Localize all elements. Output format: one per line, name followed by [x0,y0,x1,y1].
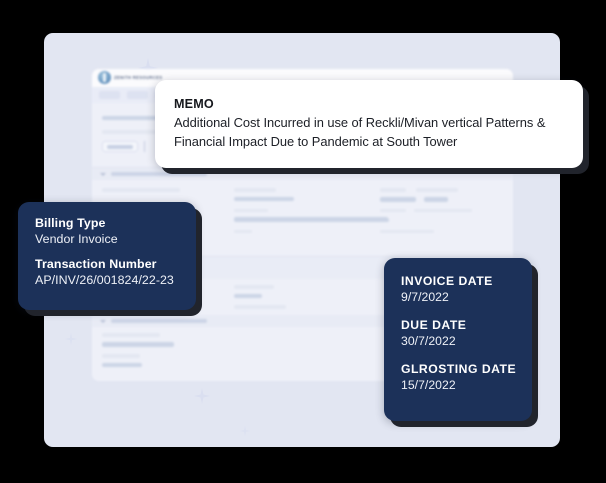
field-transaction-number: Transaction Number AP/INV/26/001824/22-2… [35,257,196,287]
skeleton-pill[interactable] [102,141,138,152]
skeleton-bar [102,354,140,358]
field-glrosting-date: GLROSTING DATE 15/7/2022 [401,362,532,392]
app-logo: ZENITH RESOURCES [98,71,162,84]
skeleton-bar [111,319,207,323]
skeleton-bar [234,197,294,201]
field-label: Billing Type [35,216,196,230]
skeleton-bar [380,230,434,233]
tab-placeholder[interactable] [127,91,148,99]
skeleton-bar [380,218,389,222]
skeleton-bar [424,197,448,202]
skeleton-bar [102,363,142,367]
skeleton-bar [414,209,472,212]
memo-title: MEMO [174,97,563,111]
skeleton-bar [234,285,274,289]
field-value: Vendor Invoice [35,232,196,246]
skeleton-bar [102,188,180,192]
billing-callout-card: Billing Type Vendor Invoice Transaction … [18,202,196,310]
sparkle-icon [194,388,210,404]
skeleton-bar [234,294,262,298]
zenith-logo-icon [98,71,111,84]
field-label: Transaction Number [35,257,196,271]
skeleton-bar [111,172,207,176]
screenshot-stage: ZENITH RESOURCES [0,0,606,483]
dates-callout-card: INVOICE DATE 9/7/2022 DUE DATE 30/7/2022… [384,258,532,421]
field-label: GLROSTING DATE [401,362,532,376]
chevron-down-icon[interactable] [100,173,106,176]
document-section-row[interactable] [92,168,513,180]
skeleton-bar [380,188,406,192]
field-invoice-date: INVOICE DATE 9/7/2022 [401,274,532,304]
skeleton-bar [380,209,406,212]
memo-body-line-2: Financial Impact Due to Pandemic at Sout… [174,133,563,152]
field-value: AP/INV/26/001824/22-23 [35,273,196,287]
field-value: 9/7/2022 [401,290,532,304]
field-value: 15/7/2022 [401,378,532,392]
skeleton-bar [234,217,388,222]
skeleton-bar [416,188,458,192]
field-label: INVOICE DATE [401,274,532,288]
skeleton-bar [234,188,276,192]
memo-callout-card: MEMO Additional Cost Incurred in use of … [155,80,583,168]
tab-placeholder[interactable] [99,91,120,99]
sparkle-icon [240,426,250,436]
sparkle-icon [65,333,77,345]
skeleton-bar [234,230,252,233]
skeleton-pill-fill [107,145,133,149]
skeleton-bar [380,197,416,202]
skeleton-bar [234,209,268,212]
chevron-down-icon[interactable] [100,320,106,323]
skeleton-bar [102,342,174,347]
text-cursor [144,141,145,152]
field-billing-type: Billing Type Vendor Invoice [35,216,196,246]
app-logo-label: ZENITH RESOURCES [114,75,162,80]
field-due-date: DUE DATE 30/7/2022 [401,318,532,348]
field-label: DUE DATE [401,318,532,332]
field-value: 30/7/2022 [401,334,532,348]
memo-body-line-1: Additional Cost Incurred in use of Reckl… [174,114,563,133]
skeleton-bar [234,305,286,309]
skeleton-bar [102,333,160,337]
